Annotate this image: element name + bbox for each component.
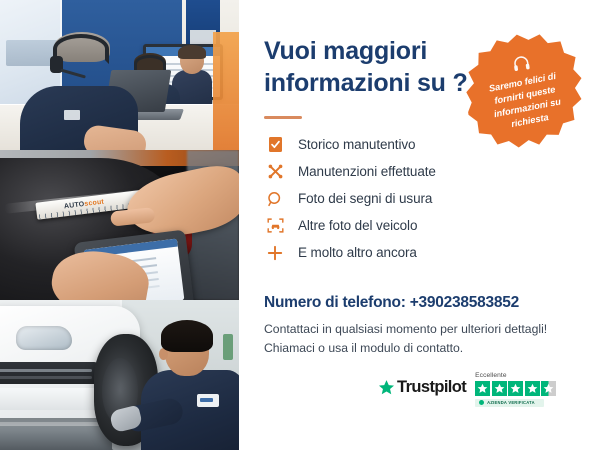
list-item-label: E molto altro ancora [298, 245, 417, 260]
star-filled [492, 381, 507, 396]
star-filled [525, 381, 540, 396]
list-item-label: Foto dei segni di usura [298, 191, 432, 206]
office-orange-panel [213, 32, 239, 150]
trustpilot-rating-label: Eccellente [475, 372, 506, 379]
foreground-agent-name-badge [64, 110, 80, 120]
car-grille [0, 362, 100, 384]
page-title: Vuoi maggiori informazioni su ? [264, 36, 484, 99]
car-scan-frame-icon [264, 217, 286, 235]
background-colleague-hair [178, 45, 206, 59]
info-request-banner: AUTOscout [0, 0, 600, 450]
verified-company-badge: AZIENDA VERIFICATA [475, 399, 544, 407]
list-item-label: Altre foto del veicolo [298, 218, 417, 233]
vehicle-inspection-photo: AUTOscout [0, 150, 239, 300]
star-filled [508, 381, 523, 396]
list-item: Foto dei segni di usura [264, 185, 564, 212]
verified-check-icon [479, 400, 484, 405]
photo-column: AUTOscout [0, 0, 239, 450]
trustpilot-rating: Eccellente [475, 372, 556, 407]
foreground-agent [20, 36, 138, 150]
crossed-wrenches-icon [264, 163, 286, 181]
trustpilot-widget[interactable]: Trustpilot Eccellente [378, 372, 556, 407]
list-item: E molto altro ancora [264, 239, 564, 266]
contact-copy-line-2: Chiamaci o usa il modulo di contatto. [264, 341, 463, 355]
title-underline-rule [264, 116, 302, 119]
trustpilot-star-icon [378, 379, 395, 396]
call-center-agents-photo [0, 0, 239, 150]
verified-company-label: AZIENDA VERIFICATA [487, 400, 535, 405]
trustpilot-wordmark: Trustpilot [397, 378, 466, 397]
mechanic-uniform-badge [197, 394, 219, 407]
mechanic-wheel-check-photo [0, 300, 239, 450]
mechanic-hair [161, 320, 213, 352]
list-item: Manutenzioni effettuate [264, 158, 564, 185]
star-filled [475, 381, 490, 396]
star-half [541, 381, 556, 396]
list-item-label: Storico manutentivo [298, 137, 415, 152]
car-headlight [16, 326, 72, 350]
trustpilot-stars [475, 381, 556, 396]
checkbox-checked-icon [264, 136, 286, 154]
inspector-finger [110, 207, 155, 227]
mechanic [137, 326, 239, 450]
contact-instructions: Contattaci in qualsiasi momento per ulte… [264, 320, 584, 357]
plus-icon [264, 244, 286, 262]
callout-badge: Saremo felici di fornirti queste informa… [466, 32, 584, 154]
magnifier-icon [264, 190, 286, 208]
starburst-shape [458, 24, 592, 161]
list-item: Altre foto del veicolo [264, 212, 564, 239]
contact-copy-line-1: Contattaci in qualsiasi momento per ulte… [264, 322, 547, 336]
phone-number-line: Numero di telefono: +390238583852 [264, 294, 519, 312]
list-item-label: Manutenzioni effettuate [298, 164, 436, 179]
trustpilot-logo: Trustpilot [378, 378, 466, 397]
